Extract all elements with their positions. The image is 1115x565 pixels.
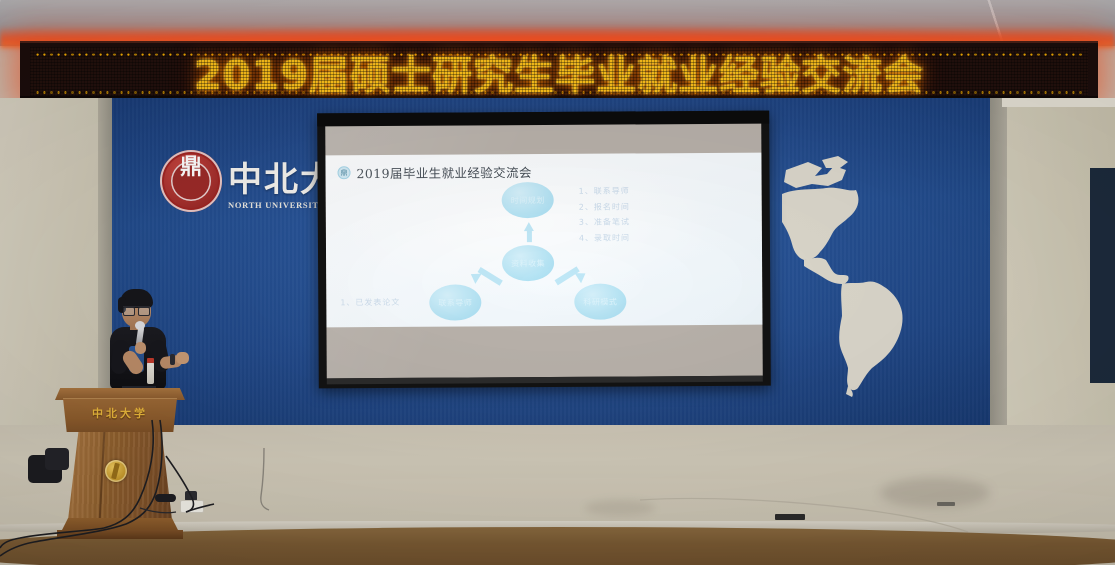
led-banner-panel: 2019届硕士研究生毕业就业经验交流会 [30, 47, 1088, 96]
list-item: 1、联系导师 [579, 183, 630, 199]
diagram-node-right: 科研模式 [574, 283, 626, 319]
list-item: 2、报名时间 [579, 199, 630, 215]
slide-numbered-list: 1、联系导师 2、报名时间 3、准备笔试 4、录取时间 [579, 183, 630, 246]
list-item: 4、录取时间 [579, 230, 630, 246]
led-banner-text: 2019届硕士研究生毕业就业经验交流会 [30, 43, 1088, 101]
podium-name-text: 中北大学 [55, 405, 185, 421]
glasses-icon [123, 306, 150, 314]
slide-note: 1、已发表论文 [340, 297, 400, 308]
slide-logo-icon: 鼎 [337, 166, 350, 179]
microphone-head [135, 321, 145, 330]
water-bottle [147, 362, 154, 384]
speaker-left-hand [135, 342, 146, 354]
list-item: 3、准备笔试 [579, 215, 630, 231]
slide-title-row: 鼎 2019届毕业生就业经验交流会 [337, 162, 531, 182]
led-banner: 2019届硕士研究生毕业就业经验交流会 [20, 41, 1098, 100]
university-seal-glyph: 鼎 [160, 157, 222, 179]
speaker-person [100, 288, 200, 400]
presentation-slide: 鼎 2019届毕业生就业经验交流会 时间规划 资料收集 联系导师 科研模式 1、… [325, 153, 762, 328]
diagram-node-center: 资料收集 [502, 245, 554, 281]
right-wall-cornice [1002, 98, 1115, 107]
outlet-cable-run [255, 448, 335, 518]
arrow-down-left-stem [478, 267, 503, 286]
speaker-right-hand [176, 352, 189, 364]
diagram-node-top: 时间规划 [502, 182, 554, 218]
wall-logo-name-en: NORTH UNIVERSITY OF CHINA [228, 200, 330, 210]
screen-canvas: 鼎 2019届毕业生就业经验交流会 时间规划 资料收集 联系导师 科研模式 1、… [325, 124, 763, 379]
wall-logo: 鼎 中北大学 NORTH UNIVERSITY OF CHINA [160, 148, 330, 240]
wall-logo-name-cn: 中北大学 [228, 152, 330, 201]
arrow-down-right-icon [575, 268, 589, 283]
slide-title: 2019届毕业生就业经验交流会 [356, 162, 531, 182]
projection-screen: 鼎 2019届毕业生就业经验交流会 时间规划 资料收集 联系导师 科研模式 1、… [317, 111, 771, 389]
screen-bottom-bar [327, 376, 763, 385]
university-seal-icon: 鼎 [160, 150, 222, 212]
diagram-node-left: 联系导师 [429, 284, 481, 320]
floor-cable-right [640, 494, 970, 540]
auditorium-stage-scene: 2019届硕士研究生毕业就业经验交流会 鼎 中北大学 NORTH UNIVERS… [0, 0, 1115, 565]
right-wall-dark-panel [1090, 168, 1115, 383]
americas-world-map-icon [782, 148, 972, 398]
water-bottle-cap [147, 358, 154, 363]
arrow-up-stem [526, 230, 531, 242]
wristwatch-icon [170, 354, 175, 365]
